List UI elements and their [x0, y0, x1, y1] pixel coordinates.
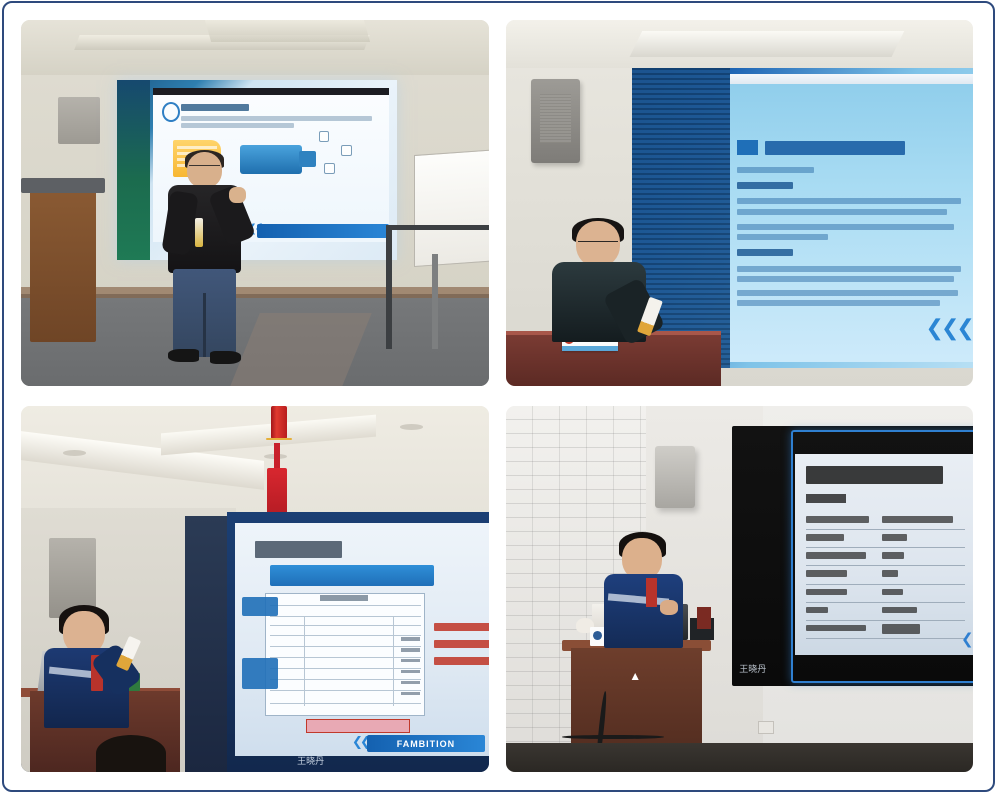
spec-key — [806, 516, 869, 523]
chevron-left-icon: ❮ — [961, 632, 973, 647]
spec-value — [882, 534, 907, 541]
slide-machine-graphic — [240, 145, 302, 174]
expense-form — [265, 593, 425, 717]
table-row — [806, 512, 964, 530]
chinese-lantern-icon — [271, 406, 287, 439]
amount-cell — [401, 637, 420, 640]
slide-toolbar — [730, 74, 973, 85]
slide-body-line-1 — [737, 198, 961, 204]
presenter-tie — [646, 578, 657, 607]
watermark-name: 王晓丹 — [297, 754, 324, 767]
presenter-legs — [173, 269, 236, 357]
spec-key — [806, 589, 847, 596]
slide-line-1 — [181, 116, 372, 120]
presenter-shoe-right — [210, 351, 240, 363]
callout-bubble-1 — [242, 597, 278, 616]
table-row — [806, 603, 964, 621]
table-row — [806, 621, 964, 639]
spec-value — [882, 570, 898, 577]
photo-bottom-left[interactable]: ❮❮❮ FAMBITION 王晓丹 — [21, 406, 489, 772]
slide-footer-bar — [257, 224, 389, 238]
spec-key — [806, 625, 866, 632]
slide-subtitle — [737, 167, 814, 174]
podium — [30, 188, 95, 342]
slide-section-1-heading — [737, 182, 793, 189]
pen — [697, 607, 711, 629]
slide-node-1 — [319, 131, 329, 142]
power-outlet — [758, 721, 774, 734]
led-screen: ❮❮❮ — [632, 68, 973, 368]
spec-key — [806, 552, 866, 559]
spec-value — [882, 607, 917, 614]
slide-footer-brand: FAMBITION — [367, 735, 484, 751]
slide-body-line-5 — [737, 266, 961, 272]
ceiling-light-1 — [63, 450, 86, 456]
whiteboard — [414, 149, 489, 267]
led-screen: ❮❮❮ FAMBITION 王晓丹 — [227, 512, 489, 772]
total-amount-cell — [401, 692, 420, 695]
slide-body: ❮❮❮ FAMBITION — [235, 523, 489, 757]
photo-top-left[interactable]: ❮❮❮ — [21, 20, 489, 386]
photo-bottom-right[interactable]: ❮ 王晓丹 ▲ — [506, 406, 974, 772]
presenter-hand — [229, 187, 246, 203]
slide-body-line-4 — [737, 234, 828, 240]
wall-speaker — [531, 79, 580, 163]
photo-grid: ❮❮❮ — [4, 3, 993, 790]
audience-head — [96, 735, 166, 772]
form-row-header — [270, 605, 422, 615]
red-warning-banner — [306, 719, 410, 733]
table-row — [806, 530, 964, 548]
ceiling-beam — [630, 31, 904, 57]
slide-node-3 — [324, 163, 334, 174]
amount-cell — [401, 659, 420, 662]
spec-key — [806, 607, 828, 614]
wall-speaker — [58, 97, 100, 145]
table-row — [806, 548, 964, 566]
whiteboard-leg — [432, 254, 438, 349]
railing-horizontal — [386, 225, 489, 230]
spec-key — [806, 570, 847, 577]
slide-line-2 — [181, 123, 293, 127]
watermark-name: 王晓丹 — [739, 662, 766, 675]
wall-speaker — [655, 446, 695, 508]
spec-value — [882, 552, 904, 559]
spec-value — [882, 516, 953, 523]
slide-body-line-3 — [737, 224, 954, 230]
amount-cell — [401, 648, 420, 651]
slide-section-2-heading — [737, 249, 793, 256]
chevron-left-icon: ❮❮❮ — [926, 317, 972, 339]
floor — [506, 743, 974, 772]
red-annotation-note — [434, 623, 489, 672]
presenter-hand — [660, 600, 679, 615]
presenter-glasses — [189, 165, 219, 172]
microphone — [195, 218, 203, 247]
slide-sidebar — [117, 80, 151, 259]
form-title — [320, 595, 367, 601]
photo-grid-frame: ❮❮❮ — [2, 1, 995, 792]
slide-body: ❮ — [795, 454, 973, 655]
mountain-logo-icon: ▲ — [625, 670, 646, 685]
table-row — [806, 566, 964, 584]
slide-body-line-2 — [737, 209, 947, 215]
slide-node-2 — [341, 145, 351, 156]
slide-top-bar — [153, 88, 389, 95]
slide-title-text — [765, 141, 905, 155]
slide-body-line-7 — [737, 290, 958, 296]
slide-logo-icon — [162, 102, 180, 122]
slide-section-tag — [737, 140, 758, 155]
spec-key — [806, 534, 844, 541]
slide-title-text — [255, 541, 342, 557]
presenter-shoe-left — [168, 349, 198, 361]
slide-body-line-8 — [737, 300, 940, 306]
projector-screen: ❮❮❮ — [117, 80, 398, 259]
railing-vertical — [386, 225, 393, 349]
slide-title-text — [806, 466, 943, 484]
amount-cell — [401, 670, 420, 673]
slide-title-text — [181, 104, 248, 111]
spec-value — [882, 589, 903, 596]
slide-banner — [270, 565, 433, 586]
photo-top-right[interactable]: ❮❮❮ — [506, 20, 974, 386]
slide-body-line-6 — [737, 276, 954, 282]
presenter-glasses — [578, 241, 618, 249]
table-row — [806, 584, 964, 602]
amount-cell — [401, 681, 420, 684]
slide-subtitle — [806, 494, 846, 503]
ceiling-beam-secondary — [205, 20, 370, 42]
callout-bubble-2 — [242, 658, 278, 688]
spec-value — [882, 624, 920, 634]
